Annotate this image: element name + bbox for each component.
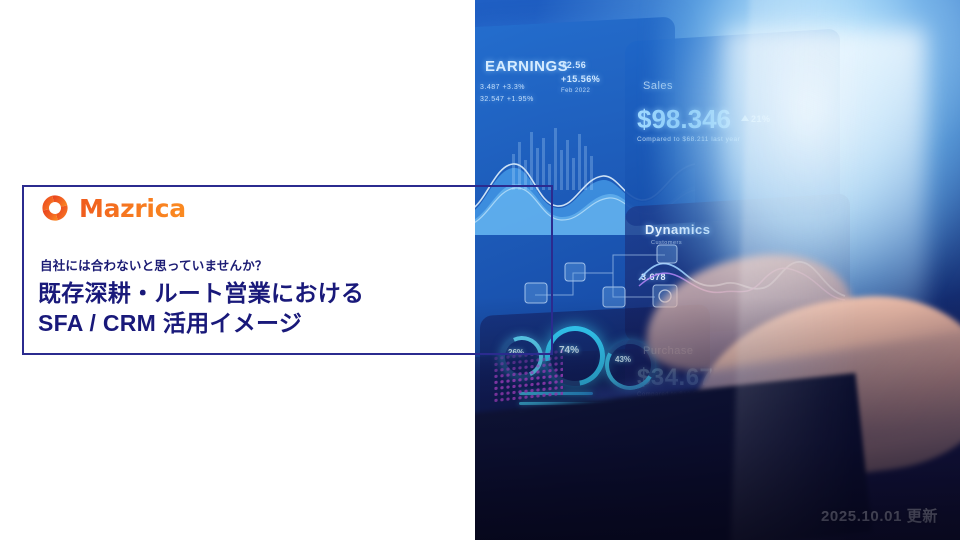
earnings-period: Feb 2022 <box>561 88 590 94</box>
earnings-row1: 3.487 +3.3% <box>480 84 525 91</box>
earnings-delta-percent: +15.56% <box>561 74 600 84</box>
earnings-delta-value: +2.56 <box>561 60 586 70</box>
mazrica-ring-logo-icon <box>40 193 70 223</box>
slide-title-line-2: SFA / CRM 活用イメージ <box>38 308 458 338</box>
slide-canvas: EARNINGS 3.487 +3.3% 32.547 +1.95% +2.56… <box>0 0 960 540</box>
mazrica-wordmark: Mazrica <box>79 194 186 223</box>
earnings-title: EARNINGS <box>485 58 568 75</box>
glass-reflection <box>730 0 871 540</box>
earnings-bar-series <box>510 120 600 190</box>
slide-title-line-1: 既存深耕・ルート営業における <box>38 278 458 308</box>
slide-title: 既存深耕・ルート営業における SFA / CRM 活用イメージ <box>38 278 458 339</box>
slide-subhead: 自社には合わないと思っていませんか？ <box>40 255 450 274</box>
earnings-row2: 32.547 +1.95% <box>480 96 534 103</box>
magenta-dot-histogram <box>493 348 563 403</box>
mazrica-logo: Mazrica <box>40 193 186 223</box>
update-date: 2025.10.01 更新 <box>821 505 938 526</box>
gauge-label-3: 43% <box>615 355 631 364</box>
